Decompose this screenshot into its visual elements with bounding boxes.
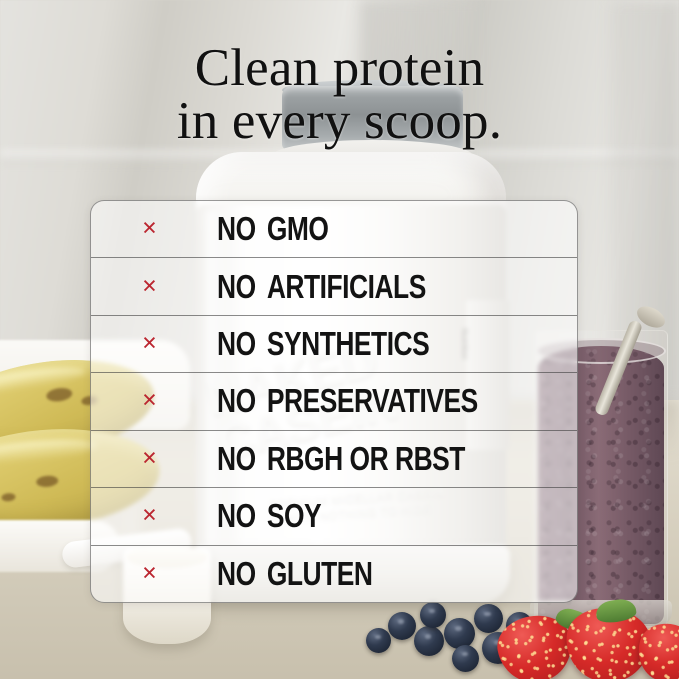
claim-value: PRESERVATIVES bbox=[267, 384, 478, 418]
x-mark-icon: ✕ bbox=[142, 451, 157, 466]
claim-prefix: NO bbox=[217, 327, 256, 361]
claims-card: ✕ NO GMO ✕ NO ARTIFICIALS ✕ NO SYNTHETIC… bbox=[90, 200, 578, 603]
x-mark-icon: ✕ bbox=[142, 279, 157, 294]
blueberry bbox=[366, 628, 391, 653]
list-item: ✕ NO SYNTHETICS bbox=[91, 316, 577, 373]
list-item: ✕ NO GMO bbox=[91, 201, 577, 258]
claim-value: GMO bbox=[267, 212, 329, 246]
list-item: ✕ NO GLUTEN bbox=[91, 546, 577, 602]
claim-text: NO SOY bbox=[217, 499, 321, 533]
blueberry bbox=[414, 626, 444, 656]
blueberry bbox=[444, 618, 475, 649]
x-mark-icon: ✕ bbox=[142, 566, 157, 581]
list-item: ✕ NO SOY bbox=[91, 488, 577, 545]
blueberry bbox=[452, 645, 479, 672]
claim-text: NO RBGH OR RBST bbox=[217, 442, 465, 476]
claim-text: NO PRESERVATIVES bbox=[217, 384, 478, 418]
x-mark-icon: ✕ bbox=[142, 394, 157, 409]
claim-text: NO SYNTHETICS bbox=[217, 327, 429, 361]
claim-value: RBGH OR RBST bbox=[267, 442, 465, 476]
x-mark-icon: ✕ bbox=[142, 337, 157, 352]
page-title: Clean protein in every scoop. bbox=[0, 42, 679, 148]
blueberry bbox=[420, 602, 446, 628]
x-mark-icon: ✕ bbox=[142, 222, 157, 237]
claim-value: SYNTHETICS bbox=[267, 327, 429, 361]
claim-prefix: NO bbox=[217, 442, 256, 476]
list-item: ✕ NO PRESERVATIVES bbox=[91, 373, 577, 430]
list-item: ✕ NO RBGH OR RBST bbox=[91, 431, 577, 488]
claim-prefix: NO bbox=[217, 557, 256, 591]
claim-value: ARTIFICIALS bbox=[267, 270, 426, 304]
claim-prefix: NO bbox=[217, 499, 256, 533]
claim-prefix: NO bbox=[217, 212, 256, 246]
claim-prefix: NO bbox=[217, 384, 256, 418]
claim-prefix: NO bbox=[217, 270, 256, 304]
promo-image: NAKED CASEIN 100% PREMIUM MICELLAR CASEI… bbox=[0, 0, 679, 679]
claim-text: NO GLUTEN bbox=[217, 557, 373, 591]
claim-value: SOY bbox=[267, 499, 321, 533]
blueberry bbox=[474, 604, 503, 633]
claims-list: ✕ NO GMO ✕ NO ARTIFICIALS ✕ NO SYNTHETIC… bbox=[91, 201, 577, 602]
x-mark-icon: ✕ bbox=[142, 509, 157, 524]
claim-value: GLUTEN bbox=[267, 557, 373, 591]
list-item: ✕ NO ARTIFICIALS bbox=[91, 258, 577, 315]
blueberry bbox=[388, 612, 416, 640]
claim-text: NO ARTIFICIALS bbox=[217, 270, 426, 304]
claim-text: NO GMO bbox=[217, 212, 328, 246]
